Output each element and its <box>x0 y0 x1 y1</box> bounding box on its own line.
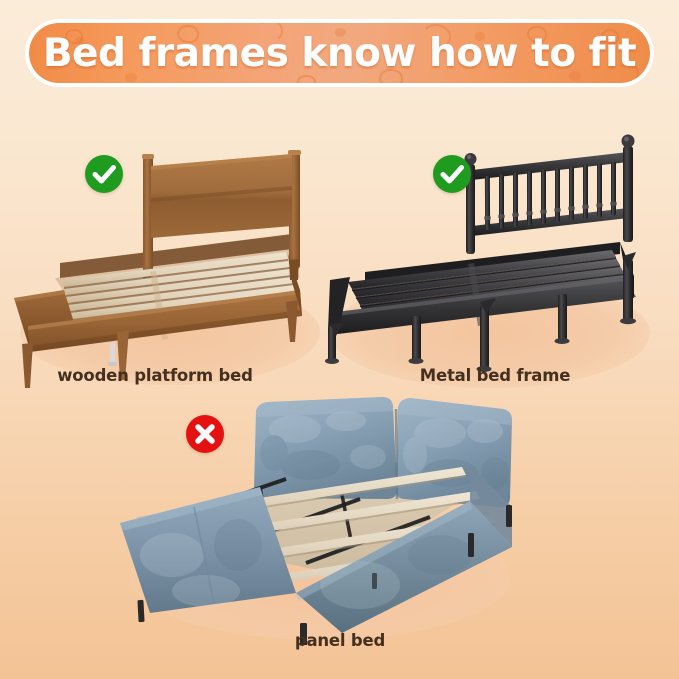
check-icon-metal-bed <box>433 155 471 193</box>
infographic-canvas: Bed frames know how to fit <box>0 0 679 679</box>
item-wooden-platform-bed: wooden platform bed <box>0 130 330 400</box>
item-panel-bed: panel bed <box>110 395 530 645</box>
label-metal-bed-frame: Metal bed frame <box>340 366 650 385</box>
metal-bed-illustration <box>320 130 670 400</box>
panel-bed-illustration <box>110 395 530 645</box>
header-banner: Bed frames know how to fit <box>25 19 654 87</box>
label-wooden-platform-bed: wooden platform bed <box>0 366 310 385</box>
check-icon-wooden-bed <box>85 155 123 193</box>
label-panel-bed: panel bed <box>180 631 500 650</box>
cross-icon-panel-bed <box>186 415 224 453</box>
page-title: Bed frames know how to fit <box>29 23 650 83</box>
item-metal-bed-frame: Metal bed frame <box>320 130 670 400</box>
header-banner-fill: Bed frames know how to fit <box>29 23 650 83</box>
wooden-bed-illustration <box>0 130 330 400</box>
